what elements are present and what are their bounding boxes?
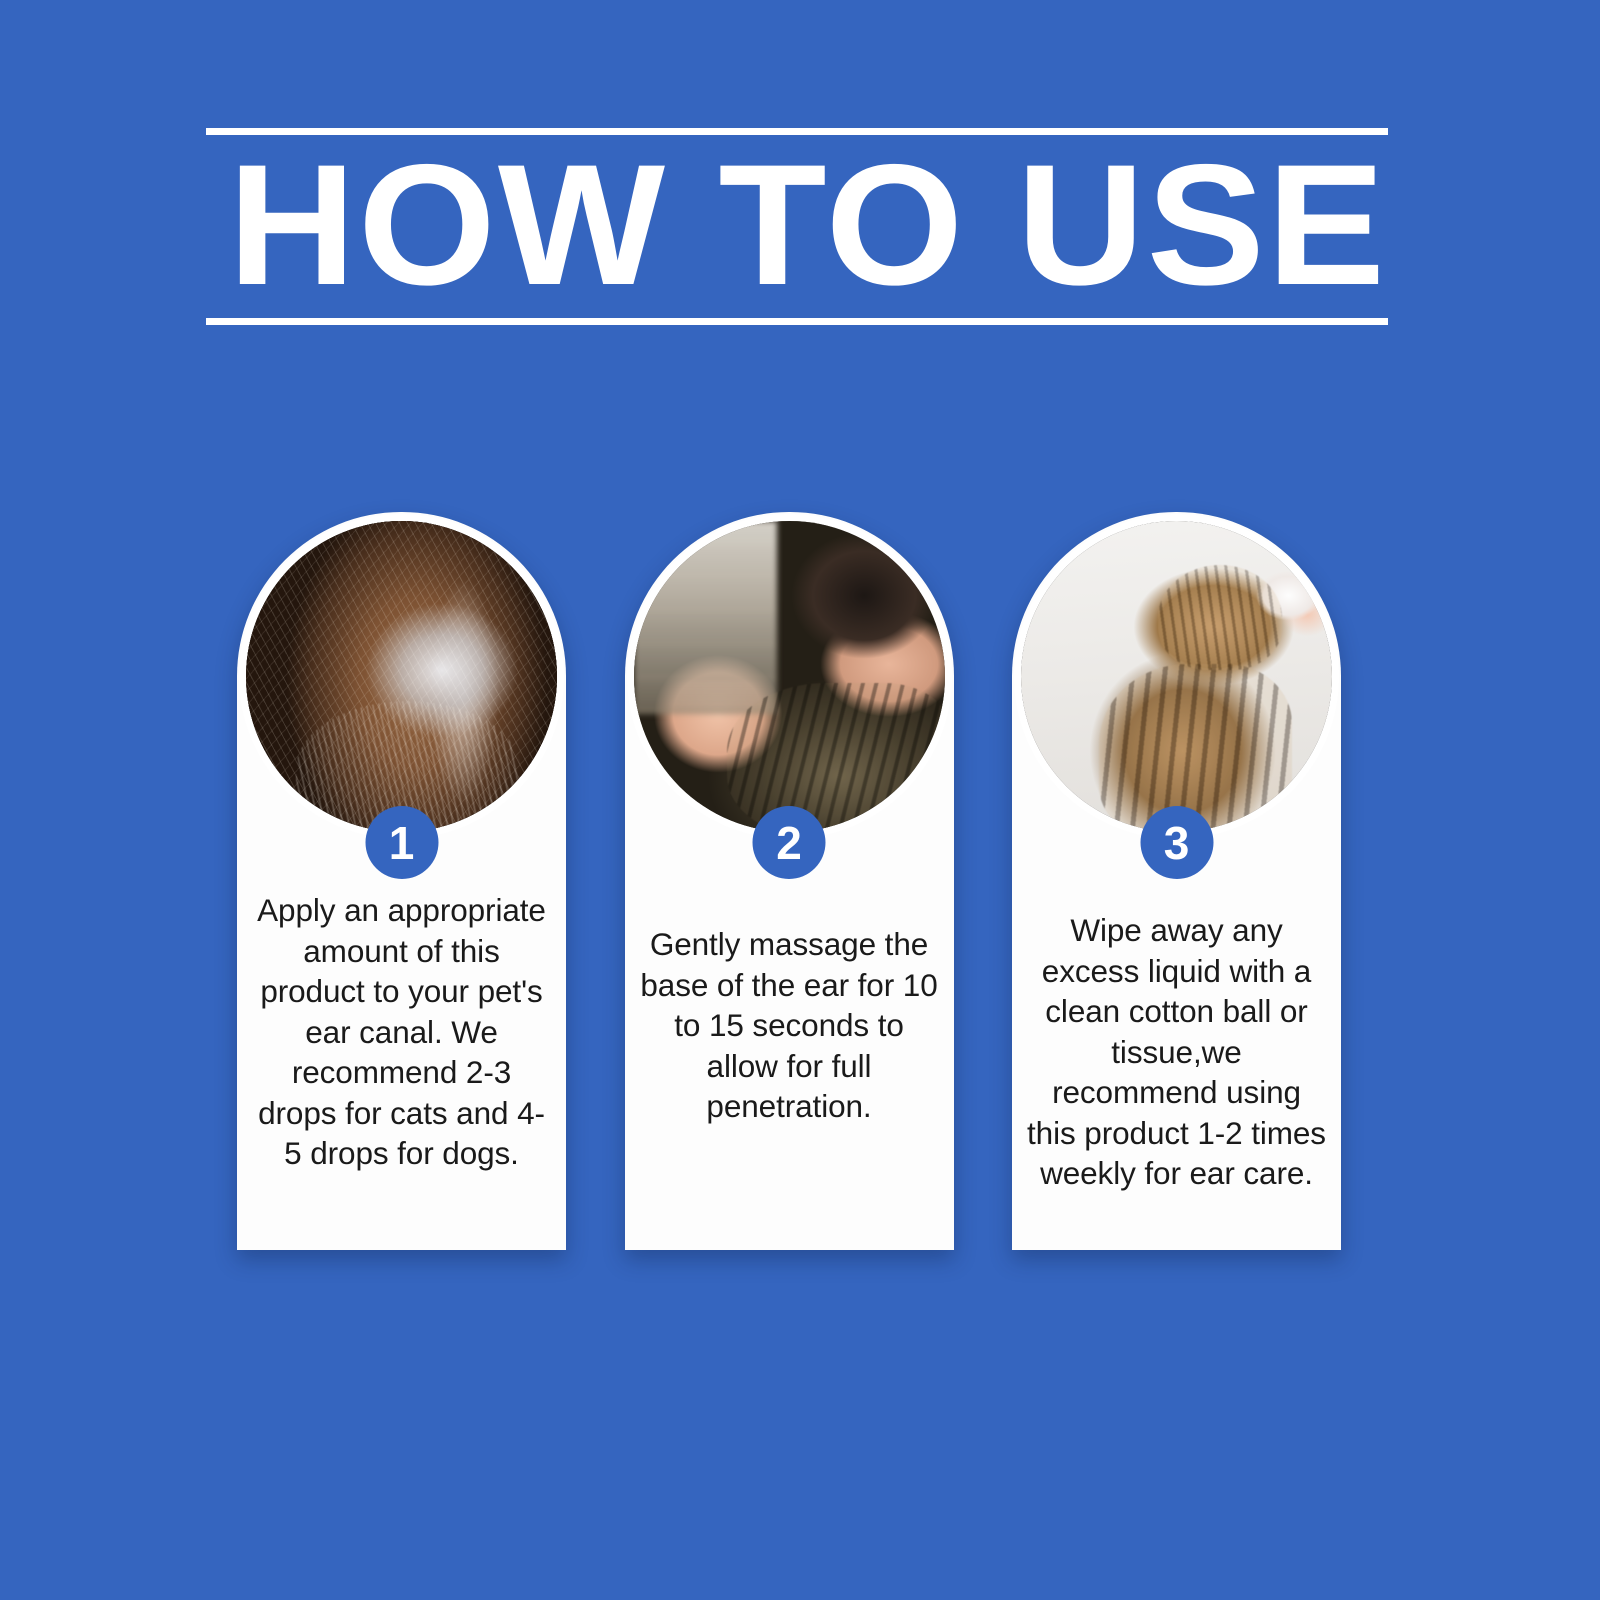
step-number-badge-1: 1 [365, 806, 438, 879]
step-number-badge-3: 3 [1140, 806, 1213, 879]
step-image-1 [246, 521, 557, 832]
cat-ear-massage-image [634, 521, 945, 832]
step-image-2 [634, 521, 945, 832]
step-image-3 [1021, 521, 1332, 832]
dog-ear-drop-image [246, 521, 557, 832]
steps-row: 1 Apply an appropriate amount of this pr… [237, 512, 1341, 1257]
cat-cotton-pad-image [1021, 521, 1332, 832]
step-text-2: Gently massage the base of the ear for 1… [639, 924, 940, 1127]
step-number-badge-2: 2 [753, 806, 826, 879]
step-card-3: 3 Wipe away any excess liquid with a cle… [1012, 512, 1341, 1252]
step-text-1: Apply an appropriate amount of this prod… [251, 890, 552, 1174]
how-to-use-poster: HOW TO USE 1 Apply an appropriate amount… [0, 0, 1600, 1600]
step-card-1: 1 Apply an appropriate amount of this pr… [237, 512, 566, 1252]
title-rule-bottom [206, 318, 1388, 325]
step-text-3: Wipe away any excess liquid with a clean… [1026, 910, 1327, 1194]
title-block: HOW TO USE [206, 128, 1388, 328]
step-card-2: 2 Gently massage the base of the ear for… [625, 512, 954, 1252]
page-title: HOW TO USE [228, 136, 1423, 314]
